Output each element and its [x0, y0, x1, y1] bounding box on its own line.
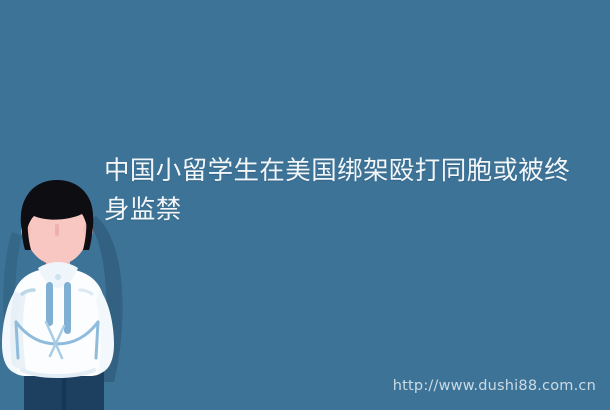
headline-text: 中国小留学生在美国绑架殴打同胞或被终身监禁	[104, 152, 584, 230]
news-thumbnail-banner: 中国小留学生在美国绑架殴打同胞或被终身监禁 http://www.dushi88…	[0, 0, 610, 410]
watermark-url: http://www.dushi88.com.cn	[393, 378, 596, 394]
